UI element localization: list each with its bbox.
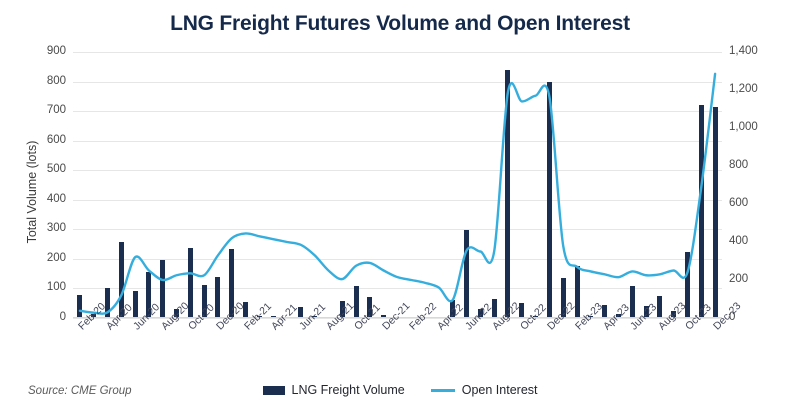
y-tick-left: 0: [20, 312, 66, 323]
y-tick-right: 800: [729, 160, 789, 171]
line-series: [73, 52, 722, 318]
legend-label-open-interest: Open Interest: [462, 383, 538, 397]
y-tick-left: 100: [20, 282, 66, 293]
y-tick-left: 400: [20, 194, 66, 205]
y-tick-left: 300: [20, 223, 66, 234]
y-tick-left: 600: [20, 135, 66, 146]
chart-legend: LNG Freight Volume Open Interest: [0, 383, 800, 397]
y-tick-right: 400: [729, 236, 789, 247]
y-tick-left: 200: [20, 253, 66, 264]
y-tick-left: 900: [20, 46, 66, 57]
y-tick-left: 500: [20, 164, 66, 175]
bar-swatch-icon: [263, 386, 285, 395]
y-tick-left: 800: [20, 76, 66, 87]
y-tick-right: 1,400: [729, 46, 789, 57]
line-swatch-icon: [431, 389, 455, 392]
legend-label-volume: LNG Freight Volume: [292, 383, 405, 397]
y-tick-right: 1,200: [729, 84, 789, 95]
y-tick-left: 700: [20, 105, 66, 116]
y-tick-right: 600: [729, 198, 789, 209]
chart-title: LNG Freight Futures Volume and Open Inte…: [0, 12, 800, 36]
legend-item-volume[interactable]: LNG Freight Volume: [263, 383, 405, 397]
open-interest-line: [80, 74, 715, 314]
legend-item-open-interest[interactable]: Open Interest: [431, 383, 538, 397]
y-tick-right: 1,000: [729, 122, 789, 133]
chart-container: LNG Freight Futures Volume and Open Inte…: [0, 0, 800, 419]
plot-area: [73, 52, 722, 318]
y-tick-right: 200: [729, 274, 789, 285]
